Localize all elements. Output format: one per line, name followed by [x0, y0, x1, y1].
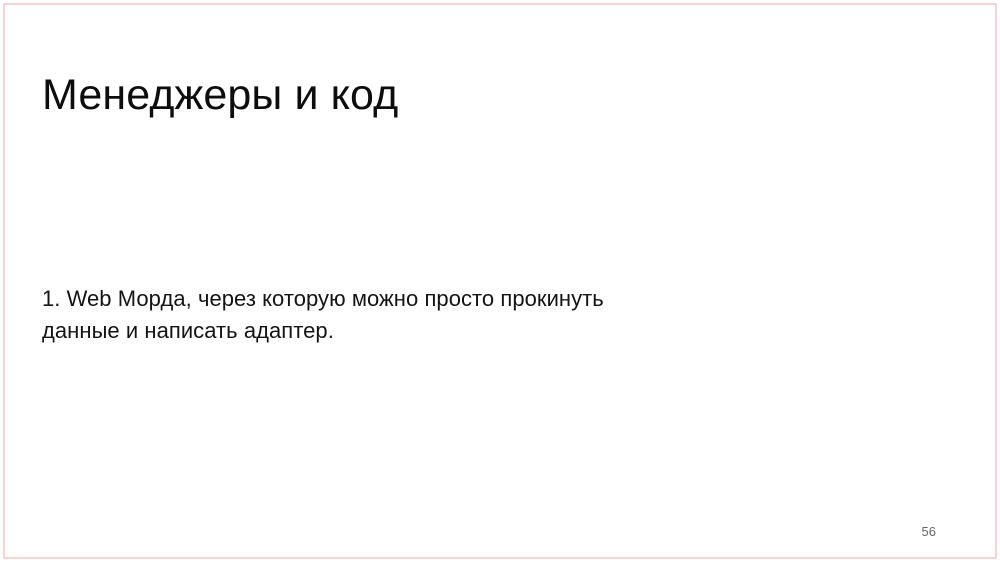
page-number: 56 [922, 524, 936, 540]
presentation-slide: Менеджеры и код 1. Web Морда, через кото… [0, 0, 1000, 562]
slide-title: Менеджеры и код [42, 69, 398, 121]
body-line-2: данные и написать адаптер. [42, 315, 802, 347]
slide-body-text: 1. Web Морда, через которую можно просто… [42, 283, 802, 347]
body-line-1: 1. Web Морда, через которую можно просто… [42, 283, 802, 315]
